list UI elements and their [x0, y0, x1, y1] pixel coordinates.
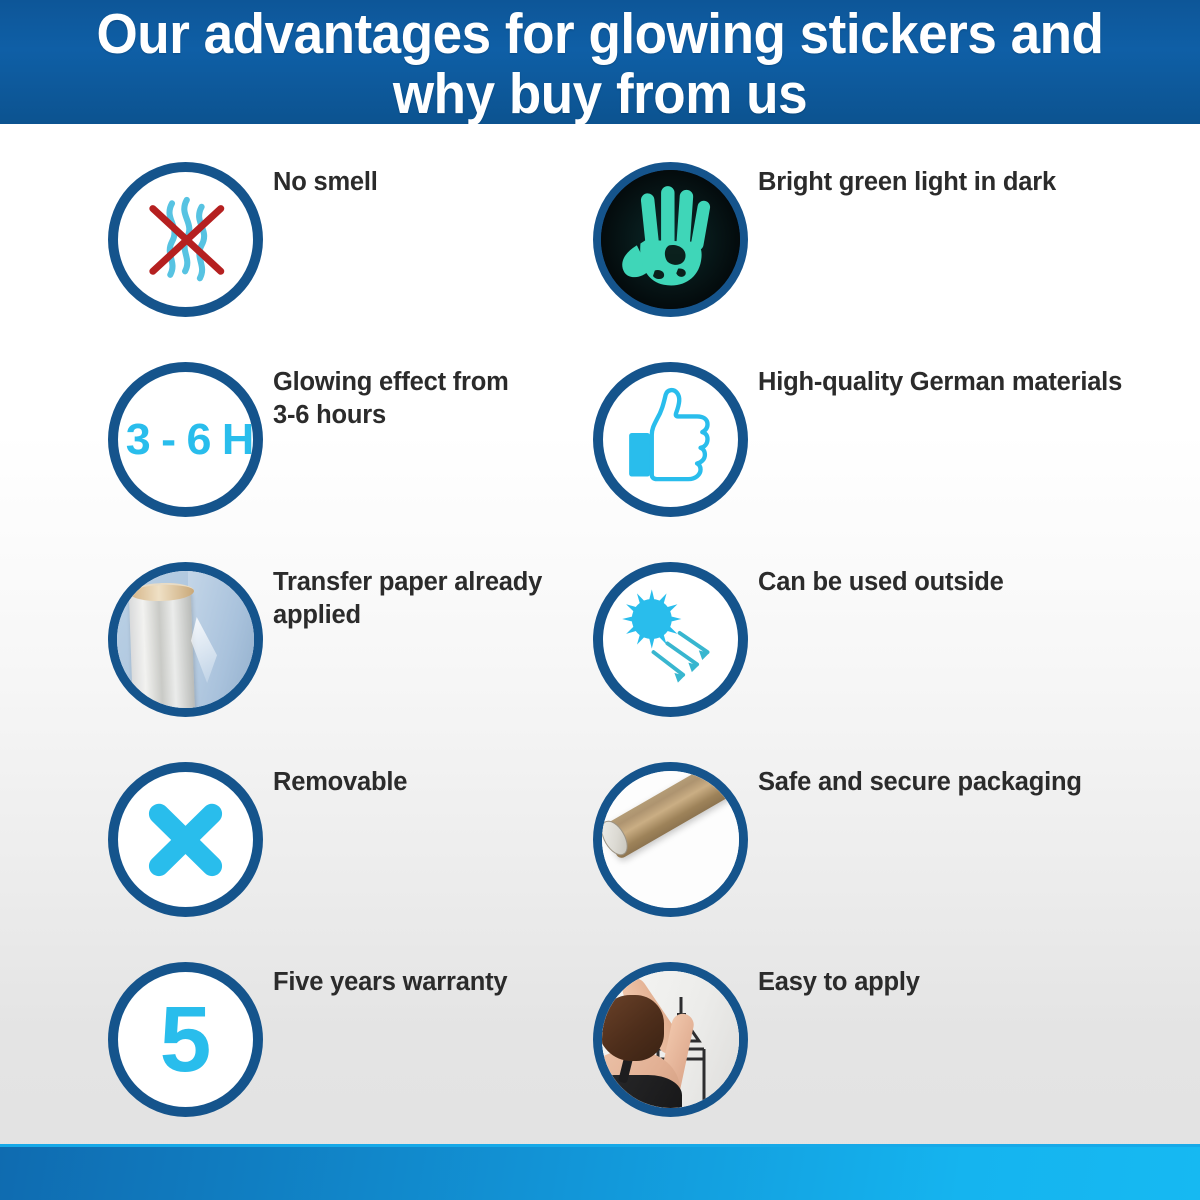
feature-label: High-quality German materials — [758, 366, 1200, 399]
feature-removable: Removable — [108, 762, 608, 962]
feature-safe-packaging: Safe and secure packaging — [593, 762, 1093, 962]
thumbs-up-glyph — [603, 372, 738, 507]
thumbs-up-icon — [593, 362, 748, 517]
feature-bright-green-light: Bright green light in dark — [593, 162, 1093, 362]
hours-value: 3 - 6 H — [121, 372, 259, 507]
sun-rays-glyph — [603, 572, 738, 707]
feature-five-years-warranty: 5 Five years warranty — [108, 962, 608, 1162]
feature-used-outside: Can be used outside — [593, 562, 1093, 762]
feature-label: Easy to apply — [758, 966, 1200, 999]
feature-label: Safe and secure packaging — [758, 766, 1200, 799]
handprint-glyph — [601, 170, 740, 309]
transfer-paper-roll-photo — [108, 562, 263, 717]
feature-label: Bright green light in dark — [758, 166, 1200, 199]
number-five-icon: 5 — [108, 962, 263, 1117]
mailing-tube-photo — [593, 762, 748, 917]
woman-applying-decal-photo — [593, 962, 748, 1117]
header-band: Our advantages for glowing stickers and … — [0, 0, 1200, 124]
footer-band — [0, 1144, 1200, 1200]
cross-x-icon — [108, 762, 263, 917]
feature-german-materials: High-quality German materials — [593, 362, 1093, 562]
sun-rays-icon — [593, 562, 748, 717]
features-grid: No smell — [0, 124, 1200, 1144]
feature-easy-to-apply: Easy to apply — [593, 962, 1093, 1162]
hours-text-icon: 3 - 6 H — [108, 362, 263, 517]
no-smell-glyph — [118, 172, 253, 307]
feature-label: Can be used outside — [758, 566, 1200, 599]
no-smell-icon — [108, 162, 263, 317]
feature-glowing-effect-hours: 3 - 6 H Glowing effect from 3-6 hours — [108, 362, 608, 562]
glowing-handprint-icon — [593, 162, 748, 317]
infographic-page: Our advantages for glowing stickers and … — [0, 0, 1200, 1200]
warranty-years-value: 5 — [118, 972, 253, 1107]
feature-no-smell: No smell — [108, 162, 608, 362]
x-mark-glyph — [118, 772, 253, 907]
feature-transfer-paper: Transfer paper already applied — [108, 562, 608, 762]
page-title: Our advantages for glowing stickers and … — [42, 4, 1158, 124]
